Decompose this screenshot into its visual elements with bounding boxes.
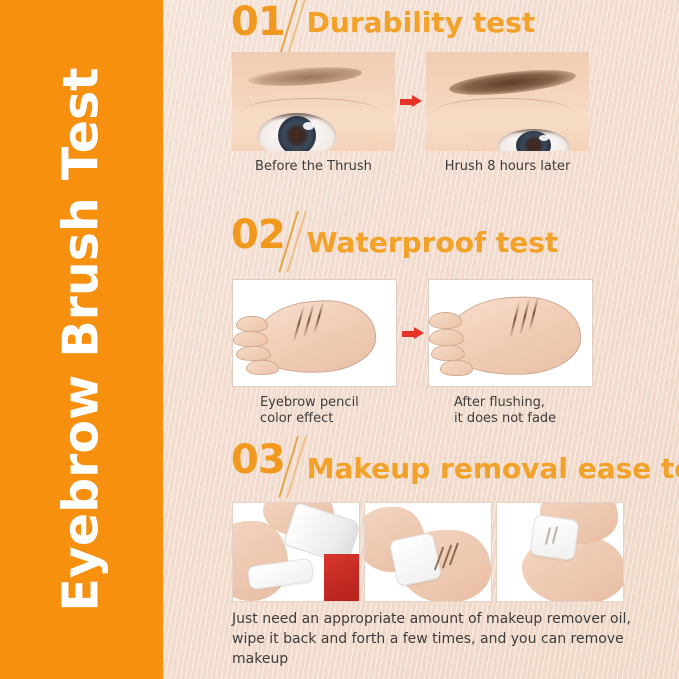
caption-hand-after-line2: it does not fade <box>454 411 589 427</box>
arrow-cell <box>397 279 428 387</box>
section-01-title: Durability test <box>307 0 536 46</box>
photo-pouring-remover-oil <box>232 502 360 602</box>
eyeball <box>258 113 336 151</box>
content-column: 01 Durability test <box>163 0 679 679</box>
photo-hand-swatch-after-water <box>428 279 593 387</box>
eye-glint <box>303 122 314 130</box>
arrow-cell <box>395 52 426 151</box>
caption-eye-before: Before the Thrush <box>232 159 395 175</box>
vertical-title-banner: Eyebrow Brush Test <box>0 0 163 679</box>
photo-hand-swatch-before <box>232 279 397 387</box>
section-makeup-removal-test: 03 Makeup removal ease test <box>163 440 679 679</box>
iris <box>516 131 550 151</box>
finger <box>236 316 267 332</box>
finger <box>431 345 466 362</box>
finger <box>440 360 473 377</box>
section-01-heading: 01 Durability test <box>163 0 679 52</box>
section-03-title: Makeup removal ease test <box>307 440 679 498</box>
photo-wiping-swatch <box>364 502 492 602</box>
caption-eye-after: Hrush 8 hours later <box>426 159 589 175</box>
finger <box>429 312 462 329</box>
section-02-heading: 02 Waterproof test <box>163 215 679 267</box>
section-02-caption-row: Eyebrow pencil color effect After flushi… <box>163 395 679 427</box>
section-durability-test: 01 Durability test <box>163 0 679 215</box>
section-waterproof-test: 02 Waterproof test <box>163 215 679 440</box>
cotton-pad <box>388 532 442 587</box>
infographic-page: Eyebrow Brush Test 01 Durability test <box>0 0 679 679</box>
caption-hand-before-line2: color effect <box>260 411 395 427</box>
product-title: Eyebrow Brush Test <box>53 67 110 611</box>
right-arrow-icon <box>402 327 424 340</box>
photo-eye-after-8-hours <box>426 52 589 151</box>
slash-divider-icon <box>285 440 311 502</box>
photo-eye-before-brush <box>232 52 395 151</box>
section-02-title: Waterproof test <box>307 215 559 271</box>
section-03-number: 03 <box>231 440 285 480</box>
right-arrow-icon <box>400 95 422 108</box>
finger <box>246 360 279 376</box>
photo-swatch-removed-result <box>496 502 624 602</box>
section-03-heading: 03 Makeup removal ease test <box>163 440 679 492</box>
eyeball <box>498 129 570 151</box>
section-03-image-row <box>163 502 679 602</box>
eyelid-crease <box>436 98 573 125</box>
finger <box>233 331 268 347</box>
section-01-image-row <box>163 52 679 151</box>
hand-holding-pad <box>232 521 288 601</box>
section-02-number: 02 <box>231 215 285 255</box>
caption-hand-before-line1: Eyebrow pencil <box>260 395 395 411</box>
red-cloth-background <box>324 554 359 601</box>
slash-divider-icon <box>285 215 311 277</box>
caption-hand-after-line1: After flushing, <box>454 395 589 411</box>
section-01-number: 01 <box>231 0 285 44</box>
section-03-caption: Just need an appropriate amount of makeu… <box>163 609 679 669</box>
section-01-caption-row: Before the Thrush Hrush 8 hours later <box>163 159 679 175</box>
section-02-image-row <box>163 279 679 387</box>
finger <box>429 329 464 346</box>
